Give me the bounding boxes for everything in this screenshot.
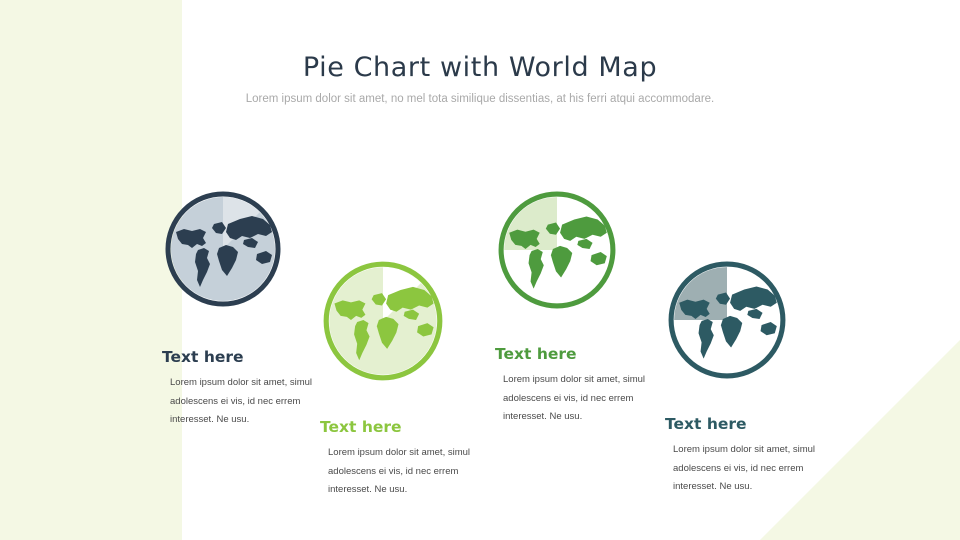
item-heading-3: Text here <box>495 345 673 363</box>
page-title: Pie Chart with World Map <box>0 52 960 83</box>
page-subtitle: Lorem ipsum dolor sit amet, no mel tota … <box>0 93 960 105</box>
item-body-3: Lorem ipsum dolor sit amet, simul adoles… <box>503 371 673 427</box>
globe-icon-1[interactable] <box>162 188 340 310</box>
globe-icon-2[interactable] <box>320 258 498 384</box>
item-heading-2: Text here <box>320 418 498 436</box>
item-heading-1: Text here <box>162 348 340 366</box>
globe-icon-4[interactable] <box>665 258 843 382</box>
globe-block-2[interactable]: Text here Lorem ipsum dolor sit amet, si… <box>320 258 498 500</box>
slide-canvas: Pie Chart with World Map Lorem ipsum dol… <box>0 0 960 540</box>
item-body-2: Lorem ipsum dolor sit amet, simul adoles… <box>328 444 498 500</box>
pie-globe-svg-2 <box>320 258 446 384</box>
item-body-1: Lorem ipsum dolor sit amet, simul adoles… <box>170 374 340 430</box>
pie-globe-svg-3 <box>495 188 619 312</box>
item-heading-4: Text here <box>665 415 843 433</box>
pie-globe-svg-4 <box>665 258 789 382</box>
globe-block-3[interactable]: Text here Lorem ipsum dolor sit amet, si… <box>495 188 673 427</box>
pie-globe-svg-1 <box>162 188 284 310</box>
globe-block-4[interactable]: Text here Lorem ipsum dolor sit amet, si… <box>665 258 843 497</box>
globe-icon-3[interactable] <box>495 188 673 312</box>
item-body-4: Lorem ipsum dolor sit amet, simul adoles… <box>673 441 843 497</box>
globe-block-1[interactable]: Text here Lorem ipsum dolor sit amet, si… <box>162 188 340 430</box>
